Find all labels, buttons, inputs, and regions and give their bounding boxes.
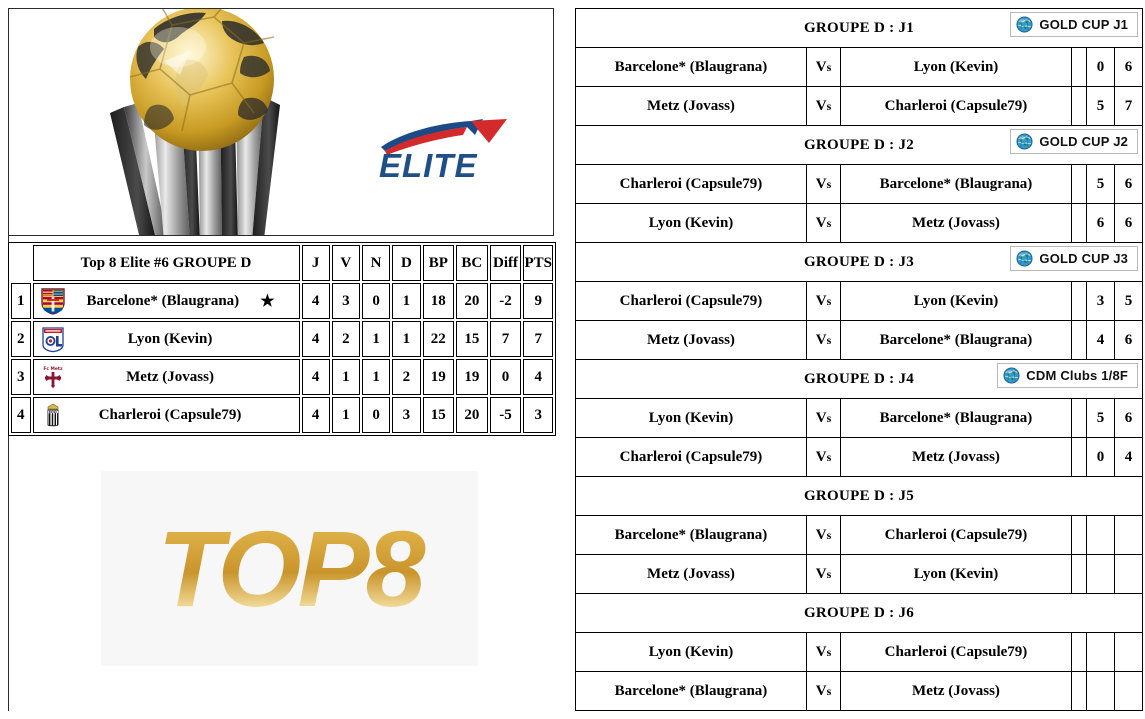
home-team: Charleroi (Capsule79) (576, 165, 807, 204)
stat-bp: 19 (423, 359, 455, 395)
column-header-bp: BP (423, 245, 455, 281)
versus-label: Vs (816, 644, 832, 660)
versus-label: Vs (816, 683, 832, 699)
away-score[interactable]: 5 (1115, 282, 1143, 321)
table-row[interactable]: 3 Fc Metz Metz (Jovass) (11, 359, 553, 395)
stat-d: 2 (392, 359, 420, 395)
matchday-header-row: GROUPE D : J5 (576, 477, 1143, 516)
rank-cell: 2 (11, 321, 31, 357)
spacer-cell (1072, 321, 1087, 360)
spacer-cell (1072, 165, 1087, 204)
matchday-header: GROUPE D : J3GOLD CUP J3 (576, 243, 1143, 282)
olympique-lyonnais-crest-icon (40, 325, 66, 353)
standings-title: Top 8 Elite #6 GROUPE D (33, 245, 300, 281)
away-score[interactable]: 6 (1115, 204, 1143, 243)
matchday-title: GROUPE D : J5 (576, 488, 1142, 505)
away-score[interactable]: 6 (1115, 48, 1143, 87)
match-row[interactable]: Lyon (Kevin)VsMetz (Jovass)66 (576, 204, 1143, 243)
match-row[interactable]: Barcelone* (Blaugrana)VsLyon (Kevin)06 (576, 48, 1143, 87)
stat-pts: 4 (523, 359, 553, 395)
home-team: Charleroi (Capsule79) (576, 438, 807, 477)
home-team: Lyon (Kevin) (576, 399, 807, 438)
stat-d: 1 (392, 321, 420, 357)
away-team: Metz (Jovass) (841, 672, 1072, 711)
fc-barcelona-crest-icon (40, 287, 66, 315)
column-header-j: J (302, 245, 330, 281)
table-row[interactable]: 2 Lyon (Kevin (11, 321, 553, 357)
stat-pts: 9 (523, 283, 553, 319)
away-score[interactable] (1115, 516, 1143, 555)
stat-v: 3 (332, 283, 360, 319)
club-world-cup-trophy-icon (94, 8, 314, 236)
match-row[interactable]: Lyon (Kevin)VsCharleroi (Capsule79) (576, 633, 1143, 672)
away-score[interactable]: 7 (1115, 87, 1143, 126)
away-score[interactable] (1115, 555, 1143, 594)
home-score[interactable] (1087, 633, 1115, 672)
spacer-cell (1072, 516, 1087, 555)
stat-bc: 15 (456, 321, 488, 357)
home-team: Barcelone* (Blaugrana) (576, 516, 807, 555)
spacer-cell (1072, 48, 1087, 87)
home-score[interactable]: 6 (1087, 204, 1115, 243)
matchday-header: GROUPE D : J6 (576, 594, 1143, 633)
match-row[interactable]: Metz (Jovass)VsLyon (Kevin) (576, 555, 1143, 594)
rank-cell: 3 (11, 359, 31, 395)
svg-text:Fc Metz: Fc Metz (43, 366, 63, 372)
versus-separator: Vs (807, 48, 841, 87)
away-team: Barcelone* (Blaugrana) (841, 165, 1072, 204)
versus-separator: Vs (807, 204, 841, 243)
matchday-header-row: GROUPE D : J3GOLD CUP J3 (576, 243, 1143, 282)
away-team: Charleroi (Capsule79) (841, 516, 1072, 555)
away-team: Lyon (Kevin) (841, 48, 1072, 87)
competition-badge-label: GOLD CUP J3 (1039, 251, 1128, 266)
away-team: Lyon (Kevin) (841, 555, 1072, 594)
home-team: Lyon (Kevin) (576, 204, 807, 243)
versus-separator: Vs (807, 321, 841, 360)
stat-d: 3 (392, 397, 420, 433)
top8-banner-text: TOP8 (101, 471, 478, 666)
stat-bc: 20 (456, 397, 488, 433)
team-name: Metz (Jovass) (66, 369, 275, 386)
table-row[interactable]: 4 RCSC Charleroi (Capsule79) (11, 397, 553, 433)
match-row[interactable]: Charleroi (Capsule79)VsBarcelone* (Blaug… (576, 165, 1143, 204)
home-team: Metz (Jovass) (576, 87, 807, 126)
home-score[interactable]: 4 (1087, 321, 1115, 360)
home-score[interactable] (1087, 672, 1115, 711)
versus-label: Vs (816, 176, 832, 192)
versus-label: Vs (816, 59, 832, 75)
spacer-cell (1072, 672, 1087, 711)
versus-label: Vs (816, 449, 832, 465)
match-row[interactable]: Barcelone* (Blaugrana)VsMetz (Jovass) (576, 672, 1143, 711)
matchday-header: GROUPE D : J2GOLD CUP J2 (576, 126, 1143, 165)
globe-icon (1003, 367, 1020, 384)
table-row[interactable]: 1 (11, 283, 553, 319)
versus-separator: Vs (807, 87, 841, 126)
team-name: Lyon (Kevin) (66, 331, 275, 348)
stat-n: 0 (362, 397, 390, 433)
column-header-pts: PTS (523, 245, 553, 281)
match-row[interactable]: Barcelone* (Blaugrana)VsCharleroi (Capsu… (576, 516, 1143, 555)
versus-label: Vs (816, 410, 832, 426)
stat-diff: -5 (490, 397, 522, 433)
away-score[interactable] (1115, 633, 1143, 672)
competition-badge-label: CDM Clubs 1/8F (1026, 368, 1128, 383)
spacer-cell (1072, 555, 1087, 594)
stat-bp: 22 (423, 321, 455, 357)
match-row[interactable]: Charleroi (Capsule79)VsMetz (Jovass)04 (576, 438, 1143, 477)
competition-badge[interactable]: GOLD CUP J1 (1010, 12, 1138, 37)
top8-banner-image: TOP8 (101, 471, 478, 666)
match-row[interactable]: Metz (Jovass)VsCharleroi (Capsule79)57 (576, 87, 1143, 126)
globe-icon (1016, 16, 1033, 33)
versus-separator: Vs (807, 516, 841, 555)
spacer-cell (1072, 399, 1087, 438)
away-team: Barcelone* (Blaugrana) (841, 399, 1072, 438)
spacer-cell (1072, 633, 1087, 672)
hero-banner: ELITE (8, 8, 554, 236)
competition-badge-label: GOLD CUP J2 (1039, 134, 1128, 149)
stat-bc: 19 (456, 359, 488, 395)
stat-bp: 15 (423, 397, 455, 433)
standings-header-row: Top 8 Elite #6 GROUPE D J V N D BP BC Di… (11, 245, 553, 281)
fixtures-table: GROUPE D : J1GOLD CUP J1Barcelone* (Blau… (575, 8, 1143, 711)
competition-badge-label: GOLD CUP J1 (1039, 17, 1128, 32)
competition-badge[interactable]: CDM Clubs 1/8F (997, 363, 1138, 388)
stat-v: 1 (332, 359, 360, 395)
away-team: Charleroi (Capsule79) (841, 87, 1072, 126)
qualified-star-icon: ★ (260, 291, 292, 311)
column-header-v: V (332, 245, 360, 281)
team-name: Barcelone* (Blaugrana) (66, 293, 261, 310)
home-team: Lyon (Kevin) (576, 633, 807, 672)
column-header-bc: BC (456, 245, 488, 281)
globe-icon (1016, 250, 1033, 267)
versus-label: Vs (816, 215, 832, 231)
stat-v: 1 (332, 397, 360, 433)
stat-diff: 7 (490, 321, 522, 357)
away-score[interactable]: 6 (1115, 321, 1143, 360)
stat-diff: 0 (490, 359, 522, 395)
stat-j: 4 (302, 283, 330, 319)
spacer-cell (1072, 204, 1087, 243)
team-cell: Lyon (Kevin) (33, 321, 300, 357)
matchday-header-row: GROUPE D : J4CDM Clubs 1/8F (576, 360, 1143, 399)
match-row[interactable]: Metz (Jovass)VsBarcelone* (Blaugrana)46 (576, 321, 1143, 360)
team-cell: RCSC Charleroi (Capsule79) (33, 397, 300, 433)
elite-logo: ELITE (379, 117, 519, 187)
rank-cell: 4 (11, 397, 31, 433)
stat-j: 4 (302, 321, 330, 357)
rank-cell: 1 (11, 283, 31, 319)
page-root: ELITE Top 8 Elite #6 GROUPE D J V N D BP… (0, 0, 1145, 719)
away-team: Lyon (Kevin) (841, 282, 1072, 321)
stat-j: 4 (302, 359, 330, 395)
left-panel: ELITE Top 8 Elite #6 GROUPE D J V N D BP… (0, 0, 556, 719)
home-team: Metz (Jovass) (576, 555, 807, 594)
home-team: Charleroi (Capsule79) (576, 282, 807, 321)
rank-header-spacer (11, 245, 31, 281)
team-cell: Barcelone* (Blaugrana) ★ (33, 283, 300, 319)
home-team: Metz (Jovass) (576, 321, 807, 360)
match-row[interactable]: Lyon (Kevin)VsBarcelone* (Blaugrana)56 (576, 399, 1143, 438)
standings-table: Top 8 Elite #6 GROUPE D J V N D BP BC Di… (8, 242, 556, 436)
stat-j: 4 (302, 397, 330, 433)
column-header-diff: Diff (490, 245, 522, 281)
away-score[interactable] (1115, 672, 1143, 711)
matchday-header-row: GROUPE D : J1GOLD CUP J1 (576, 9, 1143, 48)
column-header-d: D (392, 245, 420, 281)
versus-separator: Vs (807, 633, 841, 672)
home-score[interactable]: 3 (1087, 282, 1115, 321)
matchday-header: GROUPE D : J4CDM Clubs 1/8F (576, 360, 1143, 399)
elite-wordmark: ELITE (379, 147, 478, 185)
home-score[interactable] (1087, 516, 1115, 555)
away-team: Barcelone* (Blaugrana) (841, 321, 1072, 360)
spacer-cell (1072, 438, 1087, 477)
versus-separator: Vs (807, 555, 841, 594)
sporting-charleroi-crest-icon: RCSC (40, 401, 66, 429)
spacer-cell (1072, 87, 1087, 126)
matchday-header: GROUPE D : J1GOLD CUP J1 (576, 9, 1143, 48)
stat-bp: 18 (423, 283, 455, 319)
away-team: Charleroi (Capsule79) (841, 633, 1072, 672)
svg-text:RCSC: RCSC (48, 410, 58, 414)
stat-d: 1 (392, 283, 420, 319)
fc-metz-crest-icon: Fc Metz (40, 363, 66, 391)
away-score[interactable]: 6 (1115, 399, 1143, 438)
competition-badge[interactable]: GOLD CUP J2 (1010, 129, 1138, 154)
home-score[interactable]: 5 (1087, 87, 1115, 126)
versus-separator: Vs (807, 282, 841, 321)
versus-separator: Vs (807, 438, 841, 477)
matchday-header-row: GROUPE D : J6 (576, 594, 1143, 633)
versus-label: Vs (816, 98, 832, 114)
home-score[interactable] (1087, 555, 1115, 594)
versus-separator: Vs (807, 399, 841, 438)
home-score[interactable]: 0 (1087, 48, 1115, 87)
team-name: Charleroi (Capsule79) (66, 407, 275, 424)
matchday-header: GROUPE D : J5 (576, 477, 1143, 516)
stat-pts: 3 (523, 397, 553, 433)
stat-diff: -2 (490, 283, 522, 319)
stat-n: 1 (362, 359, 390, 395)
globe-icon (1016, 133, 1033, 150)
versus-label: Vs (816, 527, 832, 543)
match-row[interactable]: Charleroi (Capsule79)VsLyon (Kevin)35 (576, 282, 1143, 321)
stat-bc: 20 (456, 283, 488, 319)
home-team: Barcelone* (Blaugrana) (576, 48, 807, 87)
away-score[interactable]: 6 (1115, 165, 1143, 204)
versus-label: Vs (816, 332, 832, 348)
matchday-title: GROUPE D : J6 (576, 605, 1142, 622)
away-score[interactable]: 4 (1115, 438, 1143, 477)
versus-label: Vs (816, 566, 832, 582)
matchday-header-row: GROUPE D : J2GOLD CUP J2 (576, 126, 1143, 165)
home-score[interactable]: 5 (1087, 399, 1115, 438)
versus-separator: Vs (807, 672, 841, 711)
team-cell: Fc Metz Metz (Jovass) (33, 359, 300, 395)
spacer-cell (1072, 282, 1087, 321)
away-team: Metz (Jovass) (841, 204, 1072, 243)
away-team: Metz (Jovass) (841, 438, 1072, 477)
home-team: Barcelone* (Blaugrana) (576, 672, 807, 711)
home-score[interactable]: 5 (1087, 165, 1115, 204)
stat-n: 0 (362, 283, 390, 319)
stat-v: 2 (332, 321, 360, 357)
home-score[interactable]: 0 (1087, 438, 1115, 477)
competition-badge[interactable]: GOLD CUP J3 (1010, 246, 1138, 271)
stat-n: 1 (362, 321, 390, 357)
stat-pts: 7 (523, 321, 553, 357)
versus-label: Vs (816, 293, 832, 309)
versus-separator: Vs (807, 165, 841, 204)
column-header-n: N (362, 245, 390, 281)
